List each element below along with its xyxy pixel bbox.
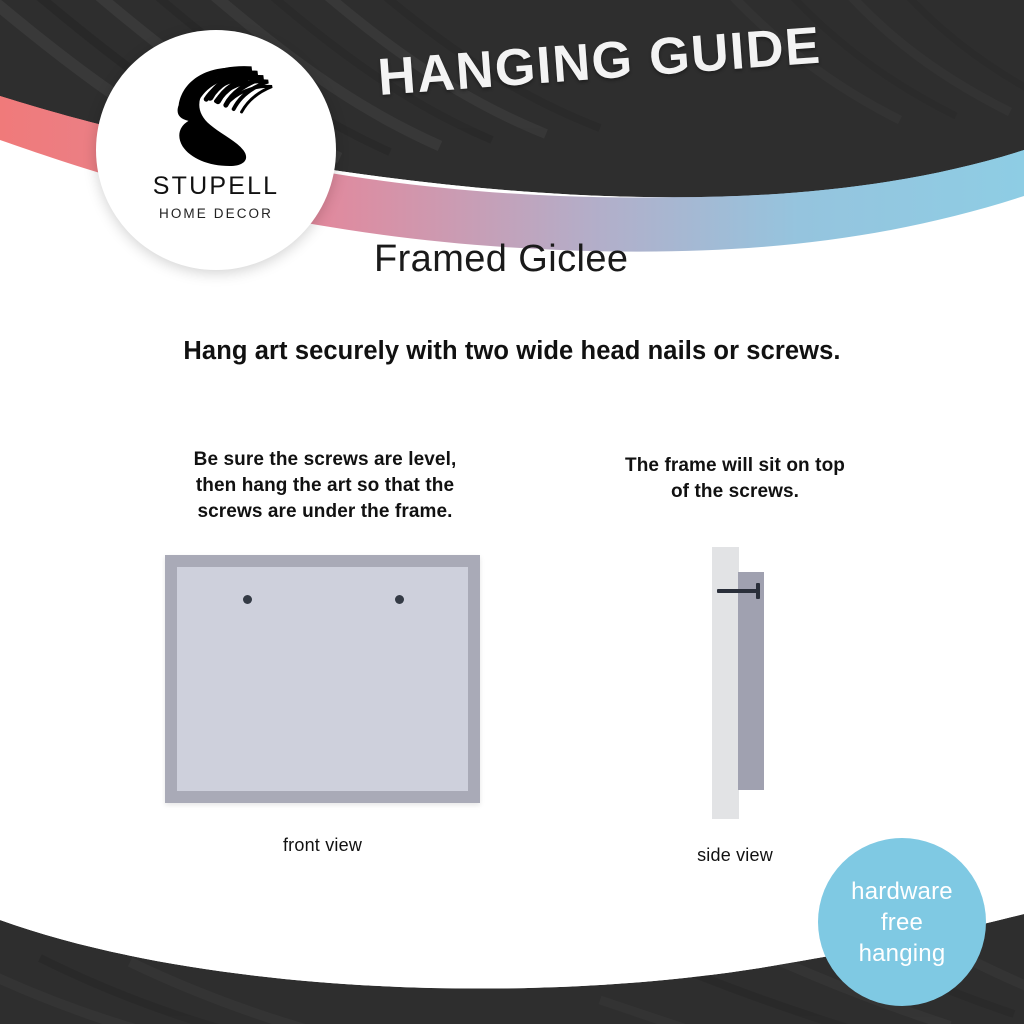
- main-instruction: Hang art securely with two wide head nai…: [0, 337, 1024, 366]
- side-view-caption: The frame will sit on top of the screws.: [590, 453, 880, 505]
- screw-dot-right: [395, 595, 404, 604]
- stupell-swoosh-icon: [157, 56, 275, 168]
- caption-line: of the screws.: [590, 479, 880, 505]
- caption-line: screws are under the frame.: [160, 499, 490, 525]
- front-view-diagram: [165, 555, 480, 803]
- front-view-label: front view: [205, 835, 440, 856]
- hardware-free-hanging-badge: hardware free hanging: [818, 838, 986, 1006]
- product-type-label: Framed Giclee: [374, 238, 628, 281]
- caption-line: then hang the art so that the: [160, 473, 490, 499]
- badge-line: hardware: [851, 876, 953, 907]
- nail-shaft-icon: [717, 589, 759, 593]
- caption-line: Be sure the screws are level,: [160, 447, 490, 473]
- hanging-guide-page: STUPELL HOME DECOR HANGING GUIDE Framed …: [0, 0, 1024, 1024]
- logo-wordmark: STUPELL: [153, 172, 280, 201]
- screw-dot-left: [243, 595, 252, 604]
- side-view-label: side view: [630, 845, 840, 866]
- logo-subtitle: HOME DECOR: [159, 206, 273, 221]
- side-view-wall: [712, 547, 739, 819]
- page-title: HANGING GUIDE: [376, 11, 879, 107]
- front-view-inner-panel: [177, 567, 468, 791]
- brand-logo-badge: STUPELL HOME DECOR: [96, 30, 336, 270]
- side-view-diagram: [700, 545, 796, 823]
- badge-line: hanging: [859, 938, 946, 969]
- nail-head-icon: [756, 583, 760, 599]
- badge-line: free: [881, 907, 923, 938]
- caption-line: The frame will sit on top: [590, 453, 880, 479]
- front-view-caption: Be sure the screws are level, then hang …: [160, 447, 490, 525]
- side-view-frame: [738, 572, 764, 790]
